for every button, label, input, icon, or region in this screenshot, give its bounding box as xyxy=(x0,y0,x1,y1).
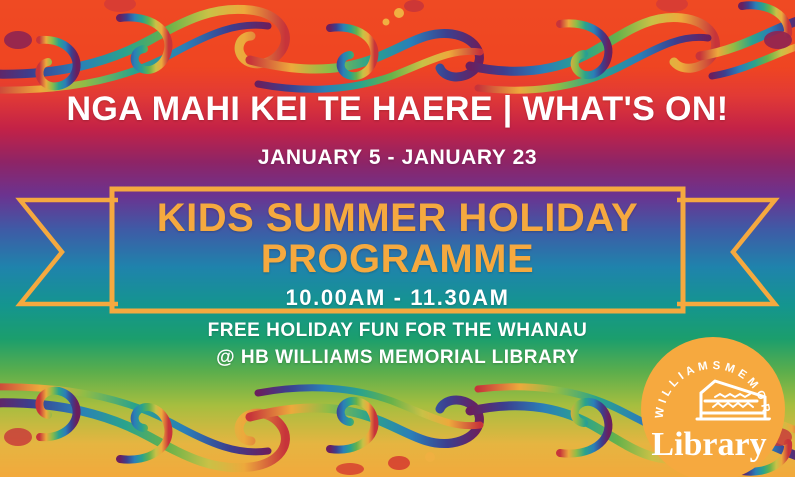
programme-title-line1: KIDS SUMMER HOLIDAY xyxy=(157,198,638,238)
promotional-poster: NGA MAHI KEI TE HAERE | WHAT'S ON! JANUA… xyxy=(0,0,795,477)
ribbon-banner: KIDS SUMMER HOLIDAY PROGRAMME 10.00AM - … xyxy=(0,186,795,314)
ribbon-text-block: KIDS SUMMER HOLIDAY PROGRAMME 10.00AM - … xyxy=(118,186,677,314)
programme-title-line2: PROGRAMME xyxy=(261,238,534,280)
kowhaiwhai-pattern-top xyxy=(0,0,795,95)
programme-time: 10.00AM - 11.30AM xyxy=(285,285,509,311)
library-logo: H B W I L L I A M S M E M O R I A L Libr… xyxy=(639,335,787,477)
poster-date-range: JANUARY 5 - JANUARY 23 xyxy=(0,146,795,170)
poster-headline: NGA MAHI KEI TE HAERE | WHAT'S ON! xyxy=(0,92,795,128)
logo-wordmark: Library xyxy=(651,426,766,463)
